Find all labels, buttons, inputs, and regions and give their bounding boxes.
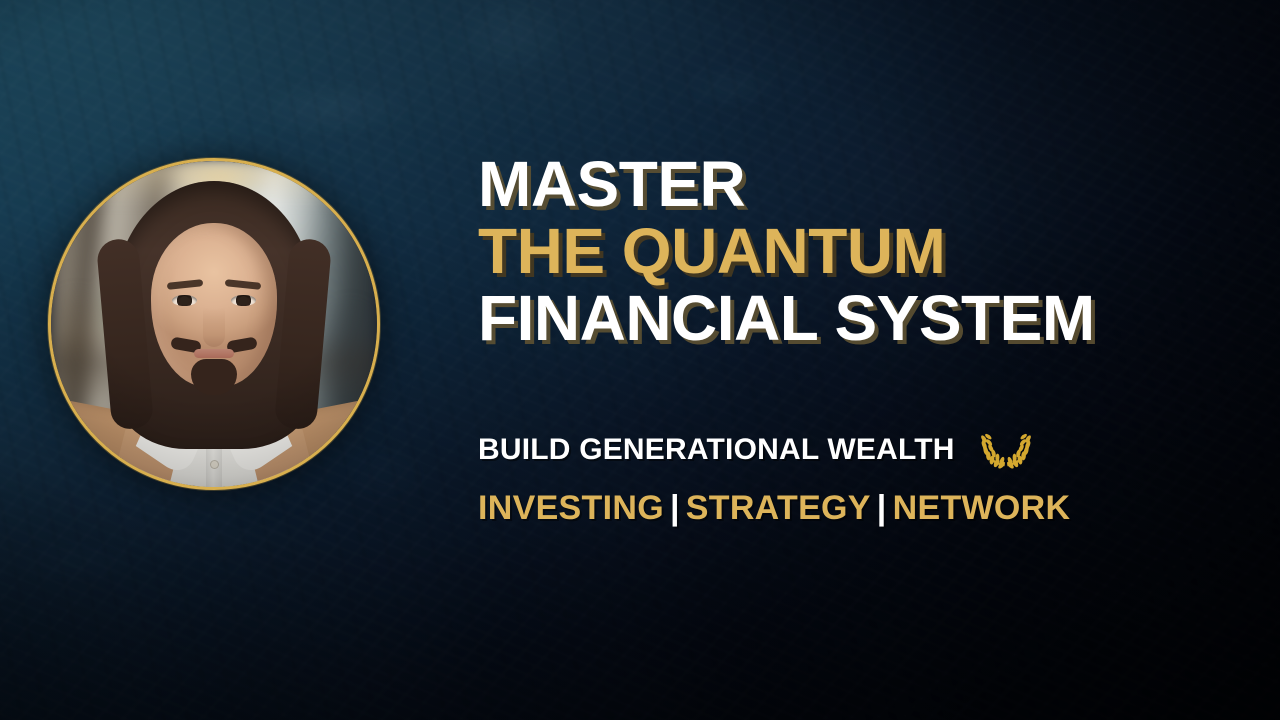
nose bbox=[203, 307, 225, 347]
tag-investing: INVESTING bbox=[478, 489, 664, 527]
tags-row: INVESTING|STRATEGY|NETWORK bbox=[478, 488, 1238, 528]
subheadline-row: BUILD GENERATIONAL WEALTH bbox=[478, 430, 1238, 470]
headline-line-2: THE QUANTUM bbox=[478, 219, 1238, 283]
mouth bbox=[194, 349, 234, 358]
tag-separator: | bbox=[871, 489, 893, 527]
eyebrow-right bbox=[225, 279, 262, 290]
laurel-wreath-icon bbox=[977, 430, 1035, 470]
tag-strategy: STRATEGY bbox=[686, 489, 871, 527]
subheadline-block: BUILD GENERATIONAL WEALTH bbox=[478, 430, 1238, 528]
eye-right bbox=[231, 295, 256, 306]
eyebrow-left bbox=[167, 279, 204, 290]
headline-line-1: MASTER bbox=[478, 152, 1238, 216]
face bbox=[151, 223, 277, 387]
eye-left bbox=[172, 295, 197, 306]
headline-line-3: FINANCIAL SYSTEM bbox=[478, 286, 1238, 350]
portrait-photo bbox=[51, 161, 377, 487]
headline-block: MASTER THE QUANTUM FINANCIAL SYSTEM bbox=[478, 152, 1238, 353]
tag-separator: | bbox=[664, 489, 686, 527]
shirt-button bbox=[211, 461, 218, 468]
avatar bbox=[48, 158, 380, 490]
goatee bbox=[191, 359, 237, 395]
tag-network: NETWORK bbox=[893, 489, 1071, 527]
promo-banner: MASTER THE QUANTUM FINANCIAL SYSTEM BUIL… bbox=[0, 0, 1280, 720]
subheadline-text: BUILD GENERATIONAL WEALTH bbox=[478, 432, 955, 468]
